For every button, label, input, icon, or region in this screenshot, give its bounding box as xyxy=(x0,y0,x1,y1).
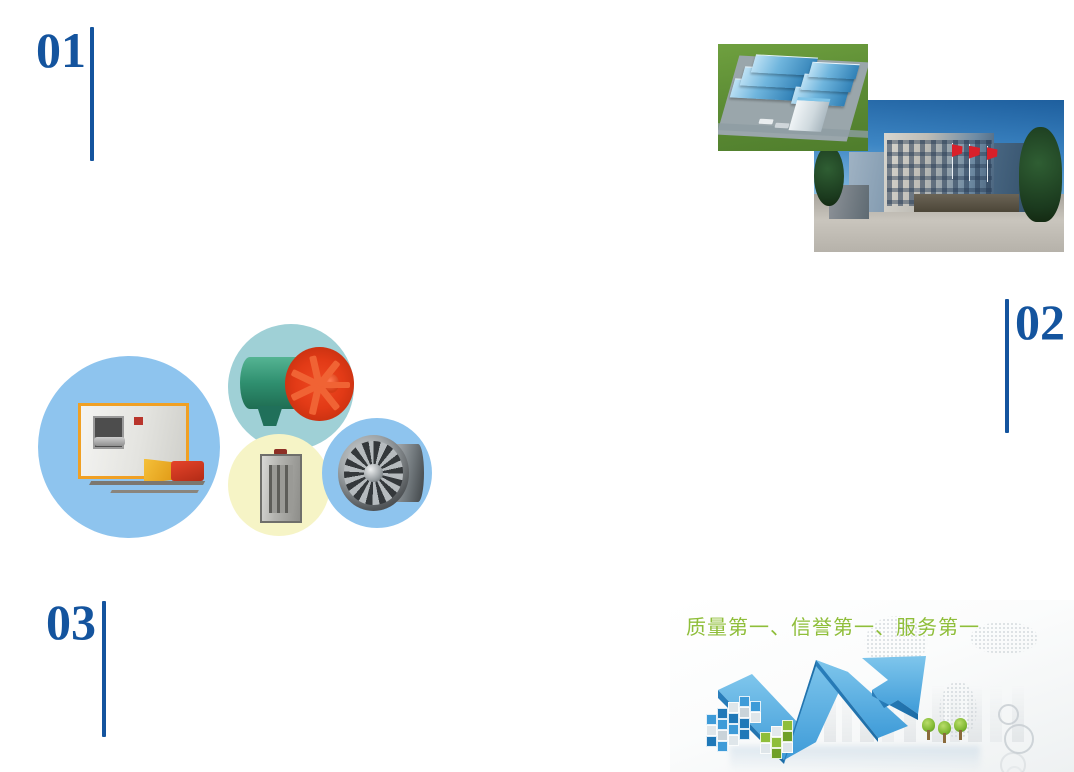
tree-icon xyxy=(922,718,935,740)
axial-fan-impeller-ring xyxy=(285,347,353,420)
blue-cube-cluster xyxy=(706,688,768,750)
photo-tree xyxy=(1019,127,1062,221)
boxfan-impeller xyxy=(94,437,126,447)
tree-trunk xyxy=(959,730,962,740)
air-damper-valve xyxy=(256,450,306,524)
aerial-workshop-roof xyxy=(808,62,860,79)
section-number-03: 03 xyxy=(46,598,96,646)
factory-aerial-render-image xyxy=(718,44,868,151)
damper-frame xyxy=(260,454,302,522)
axial-flow-fan xyxy=(238,338,356,432)
boxfan-red-motor xyxy=(171,461,204,481)
section-rule-01 xyxy=(90,27,94,161)
tree-trunk xyxy=(927,730,930,740)
damper-blades xyxy=(269,465,293,512)
decorative-ring xyxy=(998,704,1019,725)
boxfan-base-frame xyxy=(89,481,205,485)
product-range-collage xyxy=(34,322,424,550)
metalfan-hub xyxy=(364,464,382,482)
tree-icon xyxy=(938,721,951,743)
section-marker-01: 01 xyxy=(36,26,94,161)
section-number-01: 01 xyxy=(36,26,86,74)
section-rule-03 xyxy=(102,601,106,737)
tree-icon xyxy=(954,718,967,740)
boxfan-base-rail xyxy=(110,490,199,493)
mixed-flow-metal-fan xyxy=(334,430,426,518)
boxfan-control-panel xyxy=(134,417,143,425)
section-marker-02: 02 xyxy=(1005,298,1065,433)
tree-trunk xyxy=(943,733,946,743)
decorative-ring xyxy=(1004,724,1034,754)
poster-canvas: 01 02 xyxy=(0,0,1074,772)
photo-tree xyxy=(814,146,844,207)
box-centrifugal-fan-unit xyxy=(66,396,216,508)
section-rule-02 xyxy=(1005,299,1009,433)
aerial-workshop-roof xyxy=(750,54,817,75)
axial-fan-foot xyxy=(257,406,283,427)
company-slogan: 质量第一、信誉第一、服务第一 xyxy=(686,611,980,640)
section-marker-03: 03 xyxy=(46,598,106,737)
boxfan-yellow-housing xyxy=(144,459,173,484)
quality-growth-banner: 质量第一、信誉第一、服务第一 xyxy=(670,600,1074,772)
aerial-truck xyxy=(758,119,773,125)
section-number-02: 02 xyxy=(1015,298,1065,346)
photo-boundary-wall xyxy=(914,194,1019,212)
green-cube-cluster xyxy=(760,716,800,756)
